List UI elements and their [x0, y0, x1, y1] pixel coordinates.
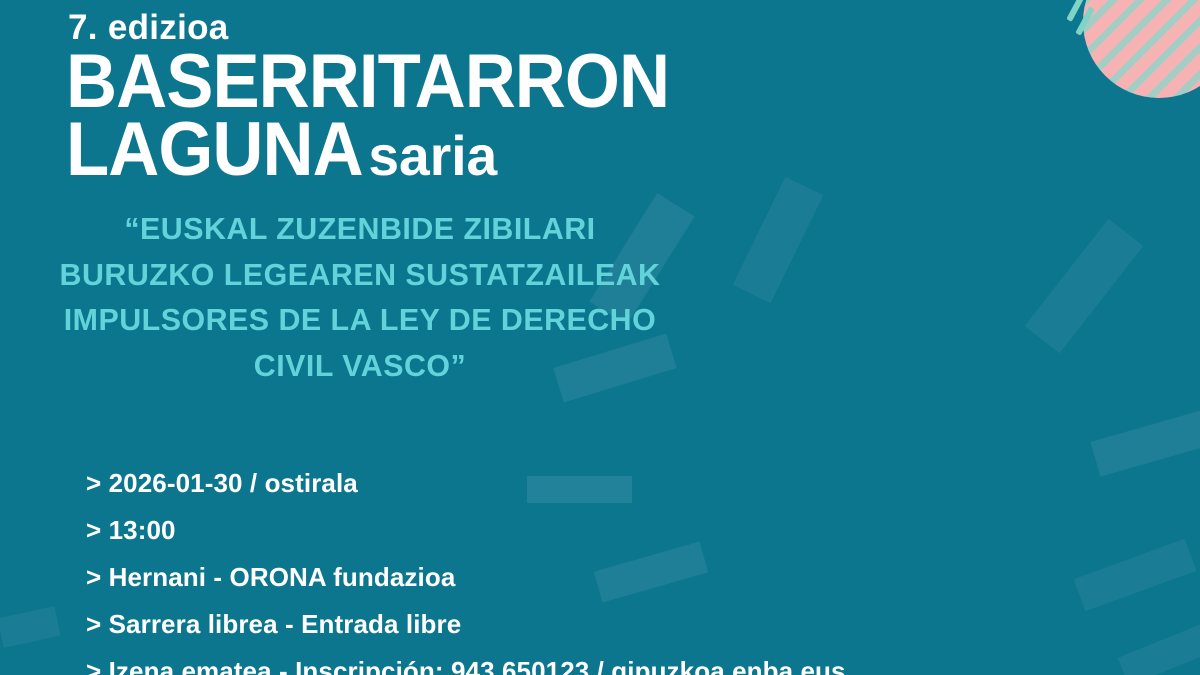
title-line-2: LAGUNA	[66, 116, 363, 184]
speakers-column: Bakartxo Tejería Eusko Legebiltzarreko L…	[820, 0, 1200, 675]
event-details-list: > 2026-01-30 / ostirala > 13:00 > Hernan…	[86, 468, 826, 675]
poster-root: 7. edizioa BASERRITARRON LAGUNA saria “E…	[0, 0, 1200, 675]
detail-entry: > Sarrera librea - Entrada libre	[86, 609, 826, 640]
title-line-1: BASERRITARRON	[66, 48, 717, 116]
award-quote: “EUSKAL ZUZENBIDE ZIBILARI BURUZKO LEGEA…	[46, 206, 673, 388]
title-suffix: saria	[368, 131, 497, 181]
title-line-2-row: LAGUNA saria	[66, 116, 717, 184]
quote-line-4: CIVIL VASCO”	[46, 343, 673, 389]
detail-venue: > Hernani - ORONA fundazioa	[86, 562, 826, 593]
detail-time: > 13:00	[86, 515, 826, 546]
detail-register: > Izena ematea - Inscripción: 943.650123…	[86, 656, 826, 675]
detail-date: > 2026-01-30 / ostirala	[86, 468, 826, 499]
left-content-column: 7. edizioa BASERRITARRON LAGUNA saria “E…	[0, 0, 820, 675]
award-title: BASERRITARRON LAGUNA saria	[66, 48, 766, 185]
quote-line-1: “EUSKAL ZUZENBIDE ZIBILARI	[46, 206, 673, 252]
quote-line-3: IMPULSORES DE LA LEY DE DERECHO	[46, 297, 673, 343]
quote-line-2: BURUZKO LEGEAREN SUSTATZAILEAK	[46, 252, 673, 298]
